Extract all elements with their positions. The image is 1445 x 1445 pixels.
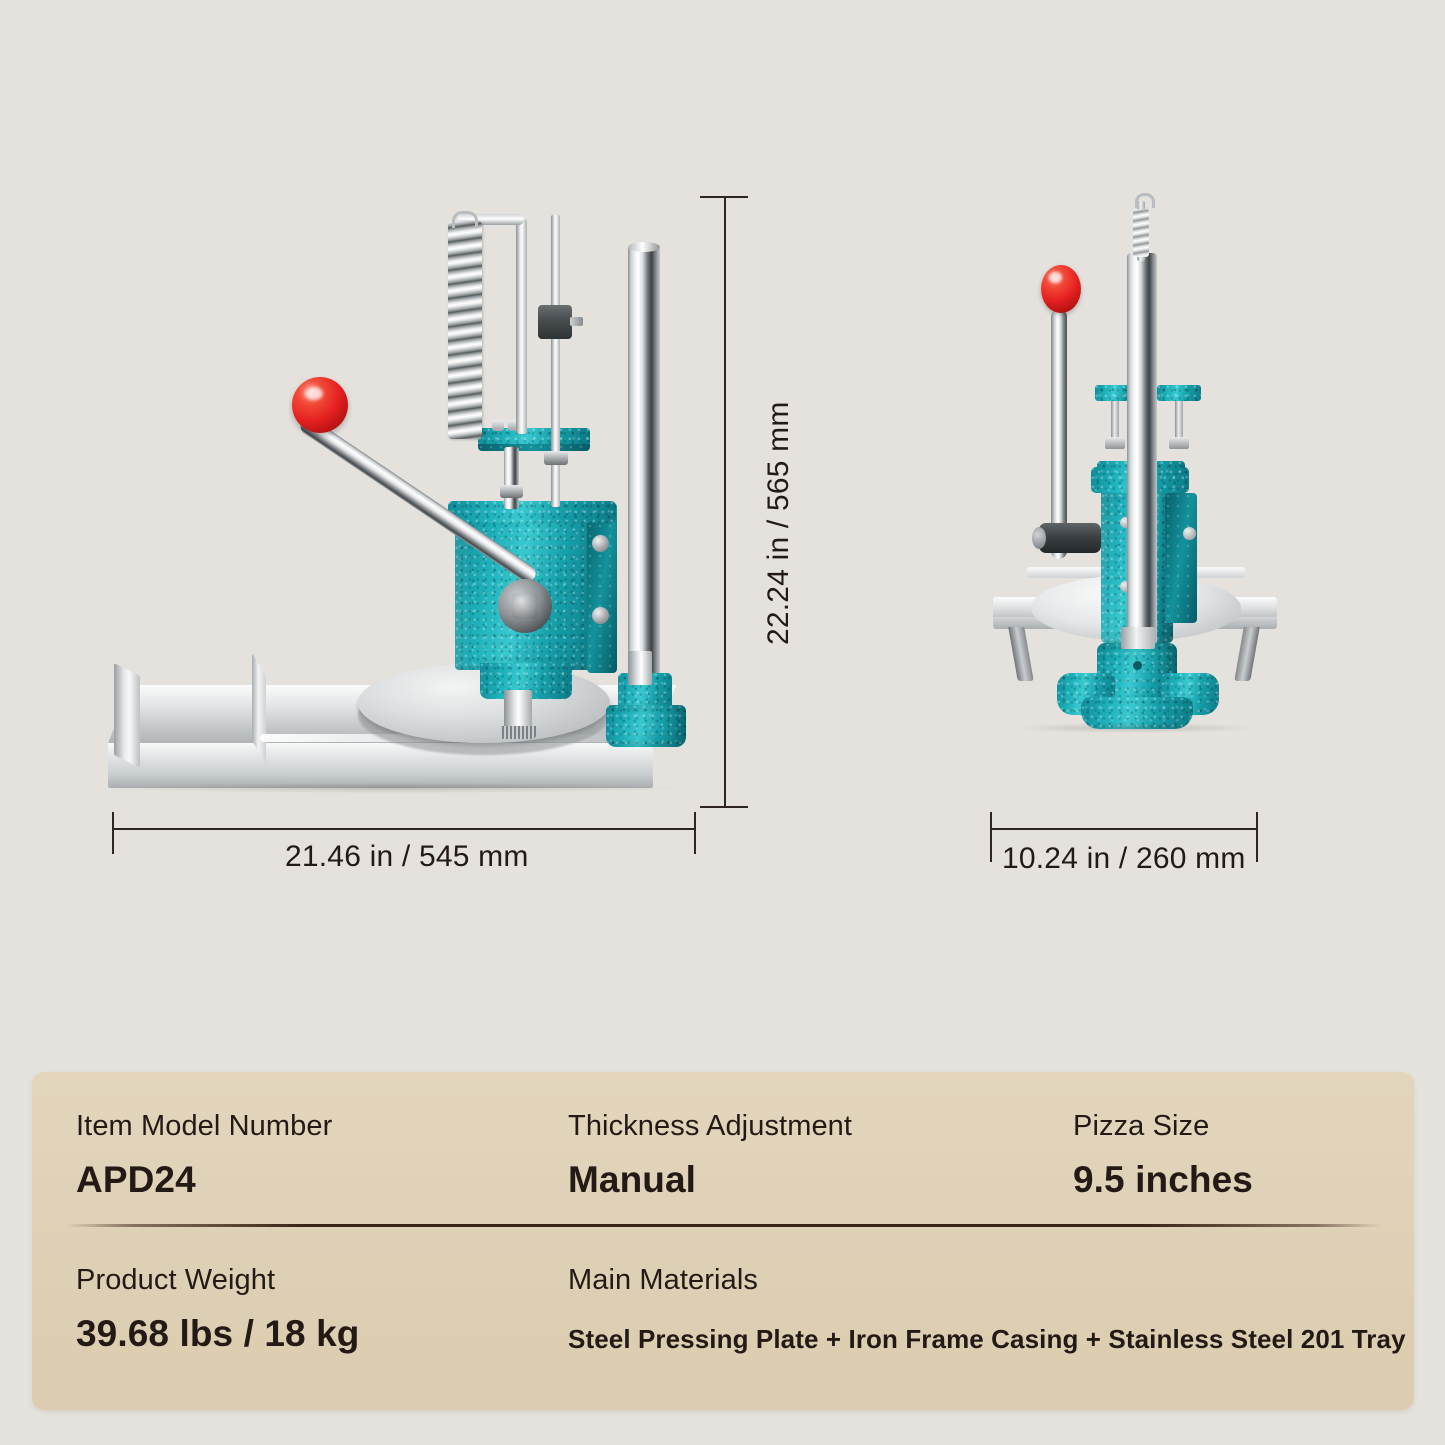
column-base-lower-flange xyxy=(606,705,686,747)
front-lever-knob-red xyxy=(1041,265,1081,313)
spec-label: Main Materials xyxy=(568,1264,1406,1297)
tension-spring xyxy=(448,221,482,439)
front-housing-right-block xyxy=(1165,493,1197,623)
spec-label: Thickness Adjustment xyxy=(568,1110,852,1143)
spring-top-hook-icon xyxy=(452,211,478,228)
spec-value: 39.68 lbs / 18 kg xyxy=(76,1313,359,1355)
tray-left-lip xyxy=(114,663,140,768)
product-view-side xyxy=(100,185,720,825)
front-tray-leg-left xyxy=(1008,627,1034,681)
side-view-ground-shadow xyxy=(110,783,680,793)
front-tray-leg-right xyxy=(1234,627,1260,681)
front-bracket-bolt-left-head-icon xyxy=(1105,437,1125,449)
housing-bolt-upper-icon xyxy=(592,535,609,552)
adjust-rod-lower-nut-icon xyxy=(544,451,568,465)
front-bracket-bolt-right-head-icon xyxy=(1169,437,1189,449)
upper-bracket-bolt-left-icon xyxy=(492,420,504,431)
spec-divider xyxy=(66,1224,1380,1227)
guide-column-tall xyxy=(628,245,660,675)
spec-cell-thickness-adjustment: Thickness Adjustment Manual xyxy=(568,1110,852,1201)
guide-column-top-cap xyxy=(628,242,660,252)
lever-knob-highlight xyxy=(305,387,323,400)
front-lever-pivot-end-icon xyxy=(1032,527,1046,549)
dimension-width-side-label: 21.46 in / 545 mm xyxy=(285,840,529,874)
product-image-stage: 22.24 in / 565 mm 21.46 in / 545 mm 10.2… xyxy=(0,0,1445,1050)
main-housing-top-cap xyxy=(448,501,616,523)
spec-cell-pizza-size: Pizza Size 9.5 inches xyxy=(1073,1110,1253,1201)
front-view-ground-shadow xyxy=(1015,723,1255,733)
spec-value: 9.5 inches xyxy=(1073,1159,1253,1201)
front-lever-knob-highlight xyxy=(1049,272,1062,283)
adjust-rod-collar-stop xyxy=(538,305,572,339)
housing-bolt-lower-icon xyxy=(592,607,609,624)
guide-post-left xyxy=(504,447,519,509)
adjust-rod-collar-screw-icon xyxy=(570,317,583,326)
guide-post-left-nut-icon xyxy=(500,485,523,498)
front-guide-column xyxy=(1127,253,1157,645)
front-ram-sleeve xyxy=(1121,627,1155,649)
spec-label: Item Model Number xyxy=(76,1110,332,1143)
dimension-height-label: 22.24 in / 565 mm xyxy=(762,401,796,645)
spec-label: Product Weight xyxy=(76,1264,359,1297)
spec-cell-item-model-number: Item Model Number APD24 xyxy=(76,1110,332,1201)
spec-value: APD24 xyxy=(76,1159,332,1201)
lever-knob-red xyxy=(292,377,348,433)
product-view-front xyxy=(985,245,1285,825)
lever-pivot-nut-icon xyxy=(512,593,538,619)
upper-bracket-plate-edge xyxy=(478,444,590,451)
spec-value: Manual xyxy=(568,1159,852,1201)
spec-label: Pizza Size xyxy=(1073,1110,1253,1143)
press-ram-knurled-tip xyxy=(500,726,536,739)
spec-cell-product-weight: Product Weight 39.68 lbs / 18 kg xyxy=(76,1264,359,1355)
front-top-hook-icon xyxy=(1135,193,1155,208)
front-upper-bracket-right xyxy=(1157,385,1201,401)
front-lever-pivot-barrel xyxy=(1039,523,1101,553)
bent-rod-vertical xyxy=(516,219,527,434)
front-top-spring xyxy=(1133,209,1149,257)
main-housing-side-panel xyxy=(587,503,617,673)
front-housing-bolt-side-icon xyxy=(1183,527,1196,540)
spec-cell-main-materials: Main Materials Steel Pressing Plate + Ir… xyxy=(568,1264,1406,1355)
specifications-panel: Item Model Number APD24 Thickness Adjust… xyxy=(32,1072,1414,1410)
front-lever-arm xyxy=(1051,309,1067,559)
dimension-width-front-label: 10.24 in / 260 mm xyxy=(1002,842,1246,876)
front-base-center-hole-icon xyxy=(1133,661,1142,670)
base-tray-front-face xyxy=(108,740,653,788)
secondary-shaft xyxy=(628,651,652,685)
spec-value: Steel Pressing Plate + Iron Frame Casing… xyxy=(568,1324,1406,1355)
